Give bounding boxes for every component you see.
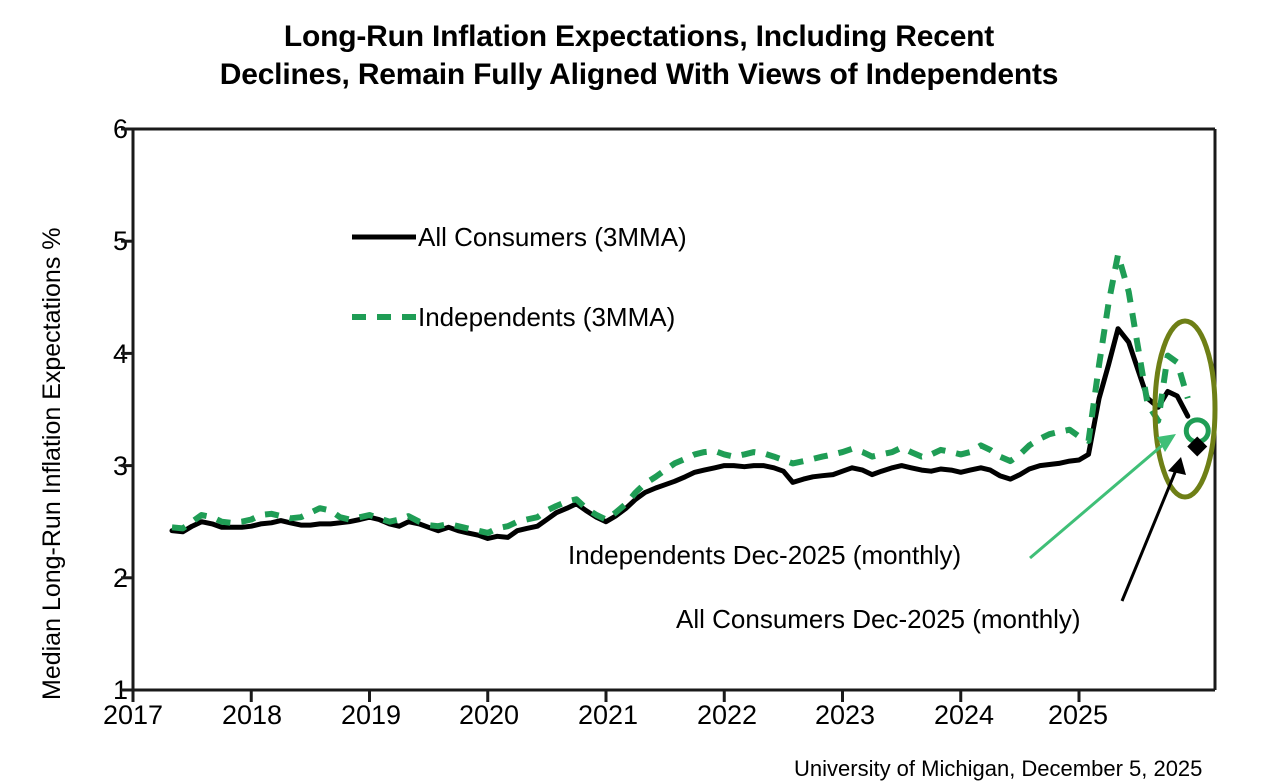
chart-figure: Long-Run Inflation Expectations, Includi… [0,0,1278,784]
arrow-line-independents [1030,443,1165,558]
legend-swatches [352,237,416,317]
plot-canvas [0,0,1278,784]
arrow-head-all-consumers [1168,457,1186,475]
x-axis-ticks [133,690,1079,702]
dec-2025-markers [1186,420,1208,457]
arrow-line-all-consumers [1122,470,1176,601]
y-axis-ticks [121,129,133,690]
series-group [172,255,1188,539]
axis-group [121,129,1215,702]
series-line-independents [172,255,1188,533]
